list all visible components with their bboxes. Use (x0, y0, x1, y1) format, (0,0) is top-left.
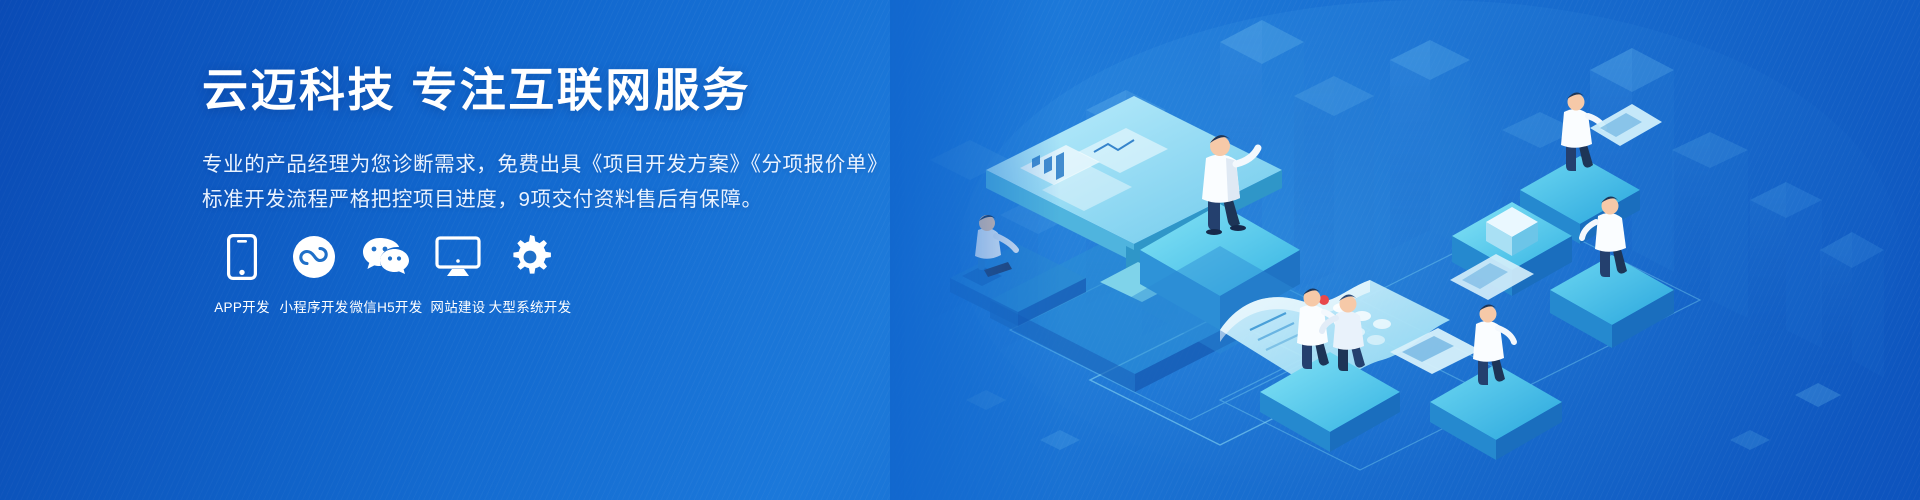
mini-program-icon (289, 232, 339, 282)
service-item-website[interactable]: 网站建设 (422, 232, 494, 316)
mobile-phone-icon (217, 232, 267, 282)
service-label: 微信H5开发 (349, 296, 422, 316)
subtitle-line-1: 专业的产品经理为您诊断需求，免费出具《项目开发方案》《分项报价单》 (202, 147, 922, 182)
service-item-miniprogram[interactable]: 小程序开发 (278, 232, 350, 316)
page-title: 云迈科技 专注互联网服务 (202, 62, 922, 118)
banner-content: 云迈科技 专注互联网服务 专业的产品经理为您诊断需求，免费出具《项目开发方案》《… (202, 62, 922, 218)
service-item-wechat-h5[interactable]: 微信H5开发 (350, 232, 422, 316)
service-label: 网站建设 (430, 296, 485, 316)
service-label: 小程序开发 (280, 296, 349, 316)
gear-icon (505, 232, 555, 282)
subtitle-line-2: 标准开发流程严格把控项目进度，9项交付资料售后有保障。 (202, 182, 922, 217)
illustration-container (890, 0, 1920, 500)
banner-subtitle: 专业的产品经理为您诊断需求，免费出具《项目开发方案》《分项报价单》 标准开发流程… (202, 147, 922, 218)
wechat-icon (361, 232, 411, 282)
service-list: APP开发 小程序开发 微信 (206, 232, 566, 316)
monitor-icon (433, 232, 483, 282)
service-item-app[interactable]: APP开发 (206, 232, 278, 316)
service-label: APP开发 (214, 296, 270, 316)
service-item-large-system[interactable]: 大型系统开发 (494, 232, 566, 316)
hero-banner: 云迈科技 专注互联网服务 专业的产品经理为您诊断需求，免费出具《项目开发方案》《… (0, 0, 1920, 500)
service-label: 大型系统开发 (489, 296, 572, 316)
